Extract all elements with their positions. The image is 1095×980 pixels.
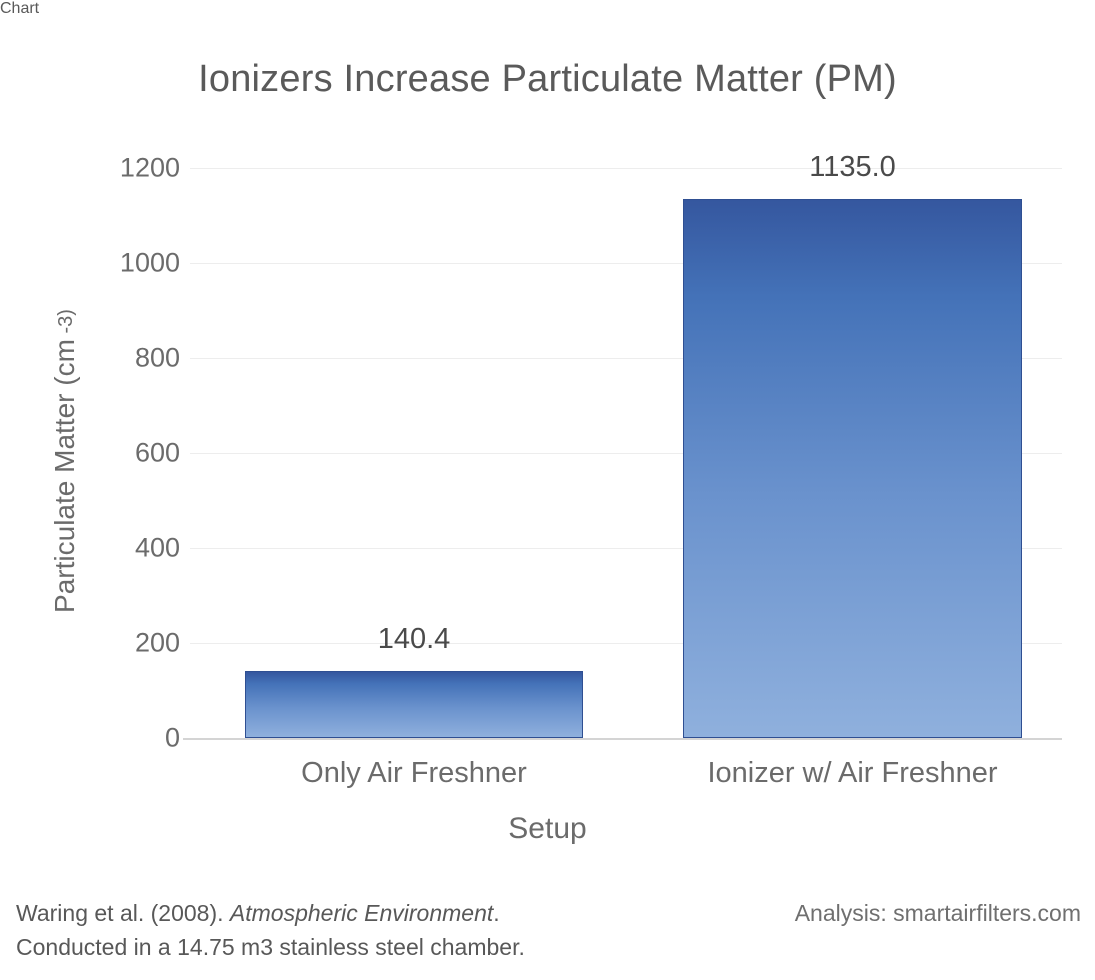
x-axis-title: Setup: [0, 812, 1095, 846]
y-tick-600: 600: [90, 438, 180, 469]
x-axis-line: [183, 738, 1062, 740]
chart-title: Ionizers Increase Particulate Matter (PM…: [0, 58, 1095, 101]
footnote-source-journal: Atmospheric Environment: [230, 900, 493, 926]
y-tick-800: 800: [90, 343, 180, 374]
footnote-source-line2: Conducted in a 14.75 m3 stainless steel …: [16, 930, 525, 964]
x-tick-only-air-freshner: Only Air Freshner: [245, 757, 583, 790]
y-tick-200: 200: [90, 628, 180, 659]
footnote-source-author: Waring et al. (2008).: [16, 900, 230, 926]
y-axis-title: Particulate Matter (cm -3): [49, 201, 81, 721]
y-tick-1200: 1200: [90, 153, 180, 184]
footnote-analysis: Analysis: smartairfilters.com: [795, 900, 1081, 927]
y-axis-title-exponent: -3): [55, 309, 77, 339]
bar-only-air-freshner[interactable]: [245, 671, 583, 738]
bar-chart: Ionizers Increase Particulate Matter (PM…: [0, 0, 1095, 980]
y-axis-ticks: 1200 1000 800 600 400 200 0: [0, 168, 180, 738]
y-axis-title-text: Particulate Matter (cm: [49, 339, 80, 613]
footnote-source-period: .: [493, 900, 499, 926]
bar-ionizer-with-air-freshner[interactable]: [683, 199, 1022, 738]
x-tick-ionizer-with-air-freshner: Ionizer w/ Air Freshner: [683, 757, 1022, 790]
y-tick-0: 0: [90, 723, 180, 754]
footnote-source-line1: Waring et al. (2008). Atmospheric Enviro…: [16, 896, 525, 930]
footnote-source: Waring et al. (2008). Atmospheric Enviro…: [16, 896, 525, 964]
bar-value-label-only-air-freshner: 140.4: [245, 623, 583, 656]
y-tick-1000: 1000: [90, 248, 180, 279]
bar-value-label-ionizer-with-air-freshner: 1135.0: [683, 151, 1022, 184]
y-tick-400: 400: [90, 533, 180, 564]
